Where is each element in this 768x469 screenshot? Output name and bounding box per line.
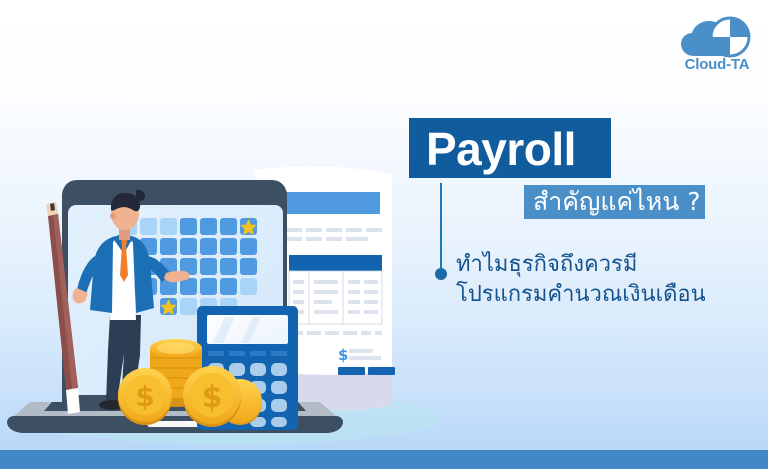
payslip-button-secondary [368,367,395,375]
bottom-band [0,450,768,469]
headline-secondary-block: สำคัญแค่ไหน ? [524,185,705,219]
brand-name: Cloud-TA [676,56,758,73]
brand-logo: Cloud-TA [676,16,758,82]
payslip-currency-symbol: $ [338,346,348,364]
payslip-table-body [289,271,382,324]
headline-primary-block: Payroll [409,118,611,178]
subtitle-line-2: โปรแกรมคำนวณเงินเดือน [456,280,706,310]
payslip-table-header [289,255,382,271]
payroll-hero-illustration: $ [0,130,470,450]
payslip-header-bar [272,192,380,214]
payslip-footer-lines [289,331,382,335]
payslip-button-primary [338,367,365,375]
headline-primary: Payroll [426,122,576,176]
cloud-clock-icon [676,16,758,60]
headline-secondary: สำคัญแค่ไหน ? [533,186,701,218]
svg-text:$: $ [202,380,223,415]
subtitle: ทำไมธุรกิจถึงควรมี โปรแกรมคำนวณเงินเดือน [456,250,706,310]
poster-canvas: $ [0,0,768,469]
svg-text:$: $ [135,380,154,413]
connector-dot [435,268,447,280]
connector-line [440,183,442,273]
coin: $ [183,366,241,427]
coin: $ [118,368,172,425]
subtitle-line-1: ทำไมธุรกิจถึงควรมี [456,250,706,280]
